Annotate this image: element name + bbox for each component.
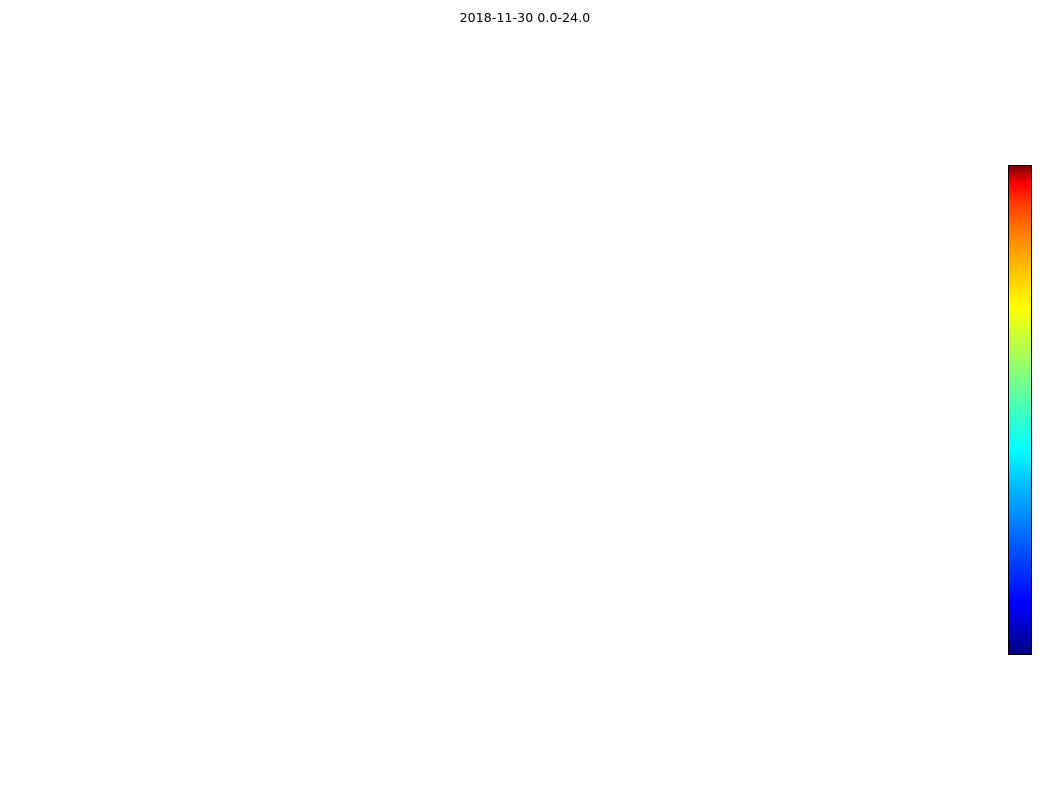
colorbar[interactable]	[1008, 165, 1032, 655]
figure-canvas: 2018-11-30 0.0-24.0	[0, 0, 1050, 800]
figure-suptitle: 2018-11-30 0.0-24.0	[0, 10, 1050, 25]
colorbar-gradient	[1008, 165, 1032, 655]
